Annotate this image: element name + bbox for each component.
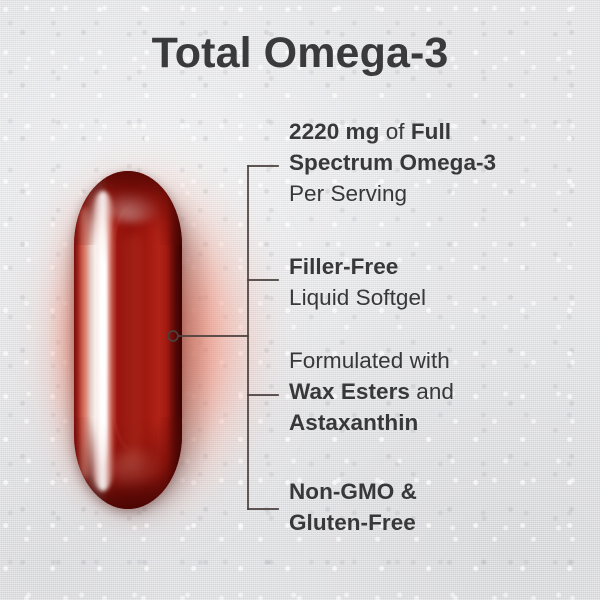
callout-filler-free: Filler-FreeLiquid Softgel — [289, 251, 589, 313]
capsule-top-shading — [74, 171, 182, 245]
capsule-shoulder-highlight — [104, 189, 162, 223]
callout-text: of — [379, 119, 410, 144]
callout-line: Liquid Softgel — [289, 282, 589, 313]
capsule-gel-meniscus — [114, 203, 161, 453]
capsule-inner-glow — [58, 150, 308, 530]
callout-formulation: Formulated withWax Esters andAstaxanthin — [289, 345, 589, 438]
callout-line: Per Serving — [289, 178, 589, 209]
callout-text: and — [410, 379, 454, 404]
callout-certifications: Non-GMO &Gluten-Free — [289, 476, 589, 538]
capsule-specular-highlight — [92, 191, 114, 491]
capsule-bottom-shading — [74, 417, 182, 509]
callout-emphasis: 2220 mg — [289, 119, 379, 144]
callout-text: Liquid Softgel — [289, 285, 426, 310]
callout-emphasis: Wax Esters — [289, 379, 410, 404]
callout-line: Filler-Free — [289, 251, 589, 282]
callout-text: Per Serving — [289, 181, 407, 206]
callout-emphasis: Filler-Free — [289, 254, 398, 279]
callout-line: Gluten-Free — [289, 507, 589, 538]
callout-line: Wax Esters and — [289, 376, 589, 407]
capsule-edge-sheen — [78, 207, 90, 479]
capsule-drop-shadow — [71, 185, 199, 515]
softgel-capsule — [74, 171, 182, 509]
pointer-circle-marker — [168, 331, 178, 341]
callout-emphasis: Gluten-Free — [289, 510, 416, 535]
product-infographic: Total Omega-3 2220 m — [0, 0, 600, 600]
capsule-specular-core — [99, 219, 107, 469]
callout-emphasis: Full — [411, 119, 451, 144]
callout-line: Non-GMO & — [289, 476, 589, 507]
page-title: Total Omega-3 — [0, 27, 600, 79]
callout-line: Formulated with — [289, 345, 589, 376]
callout-text: Formulated with — [289, 348, 450, 373]
callout-emphasis: Non-GMO & — [289, 479, 417, 504]
capsule-interior-reflection — [121, 233, 147, 461]
callout-line: 2220 mg of Full — [289, 116, 589, 147]
callout-emphasis: Astaxanthin — [289, 410, 418, 435]
callout-emphasis: Spectrum Omega-3 — [289, 150, 496, 175]
callout-line: Spectrum Omega-3 — [289, 147, 589, 178]
callout-line: Astaxanthin — [289, 407, 589, 438]
callout-serving: 2220 mg of FullSpectrum Omega-3Per Servi… — [289, 116, 589, 209]
capsule-bottom-highlight — [108, 449, 162, 491]
capsule-right-rim — [166, 171, 182, 509]
